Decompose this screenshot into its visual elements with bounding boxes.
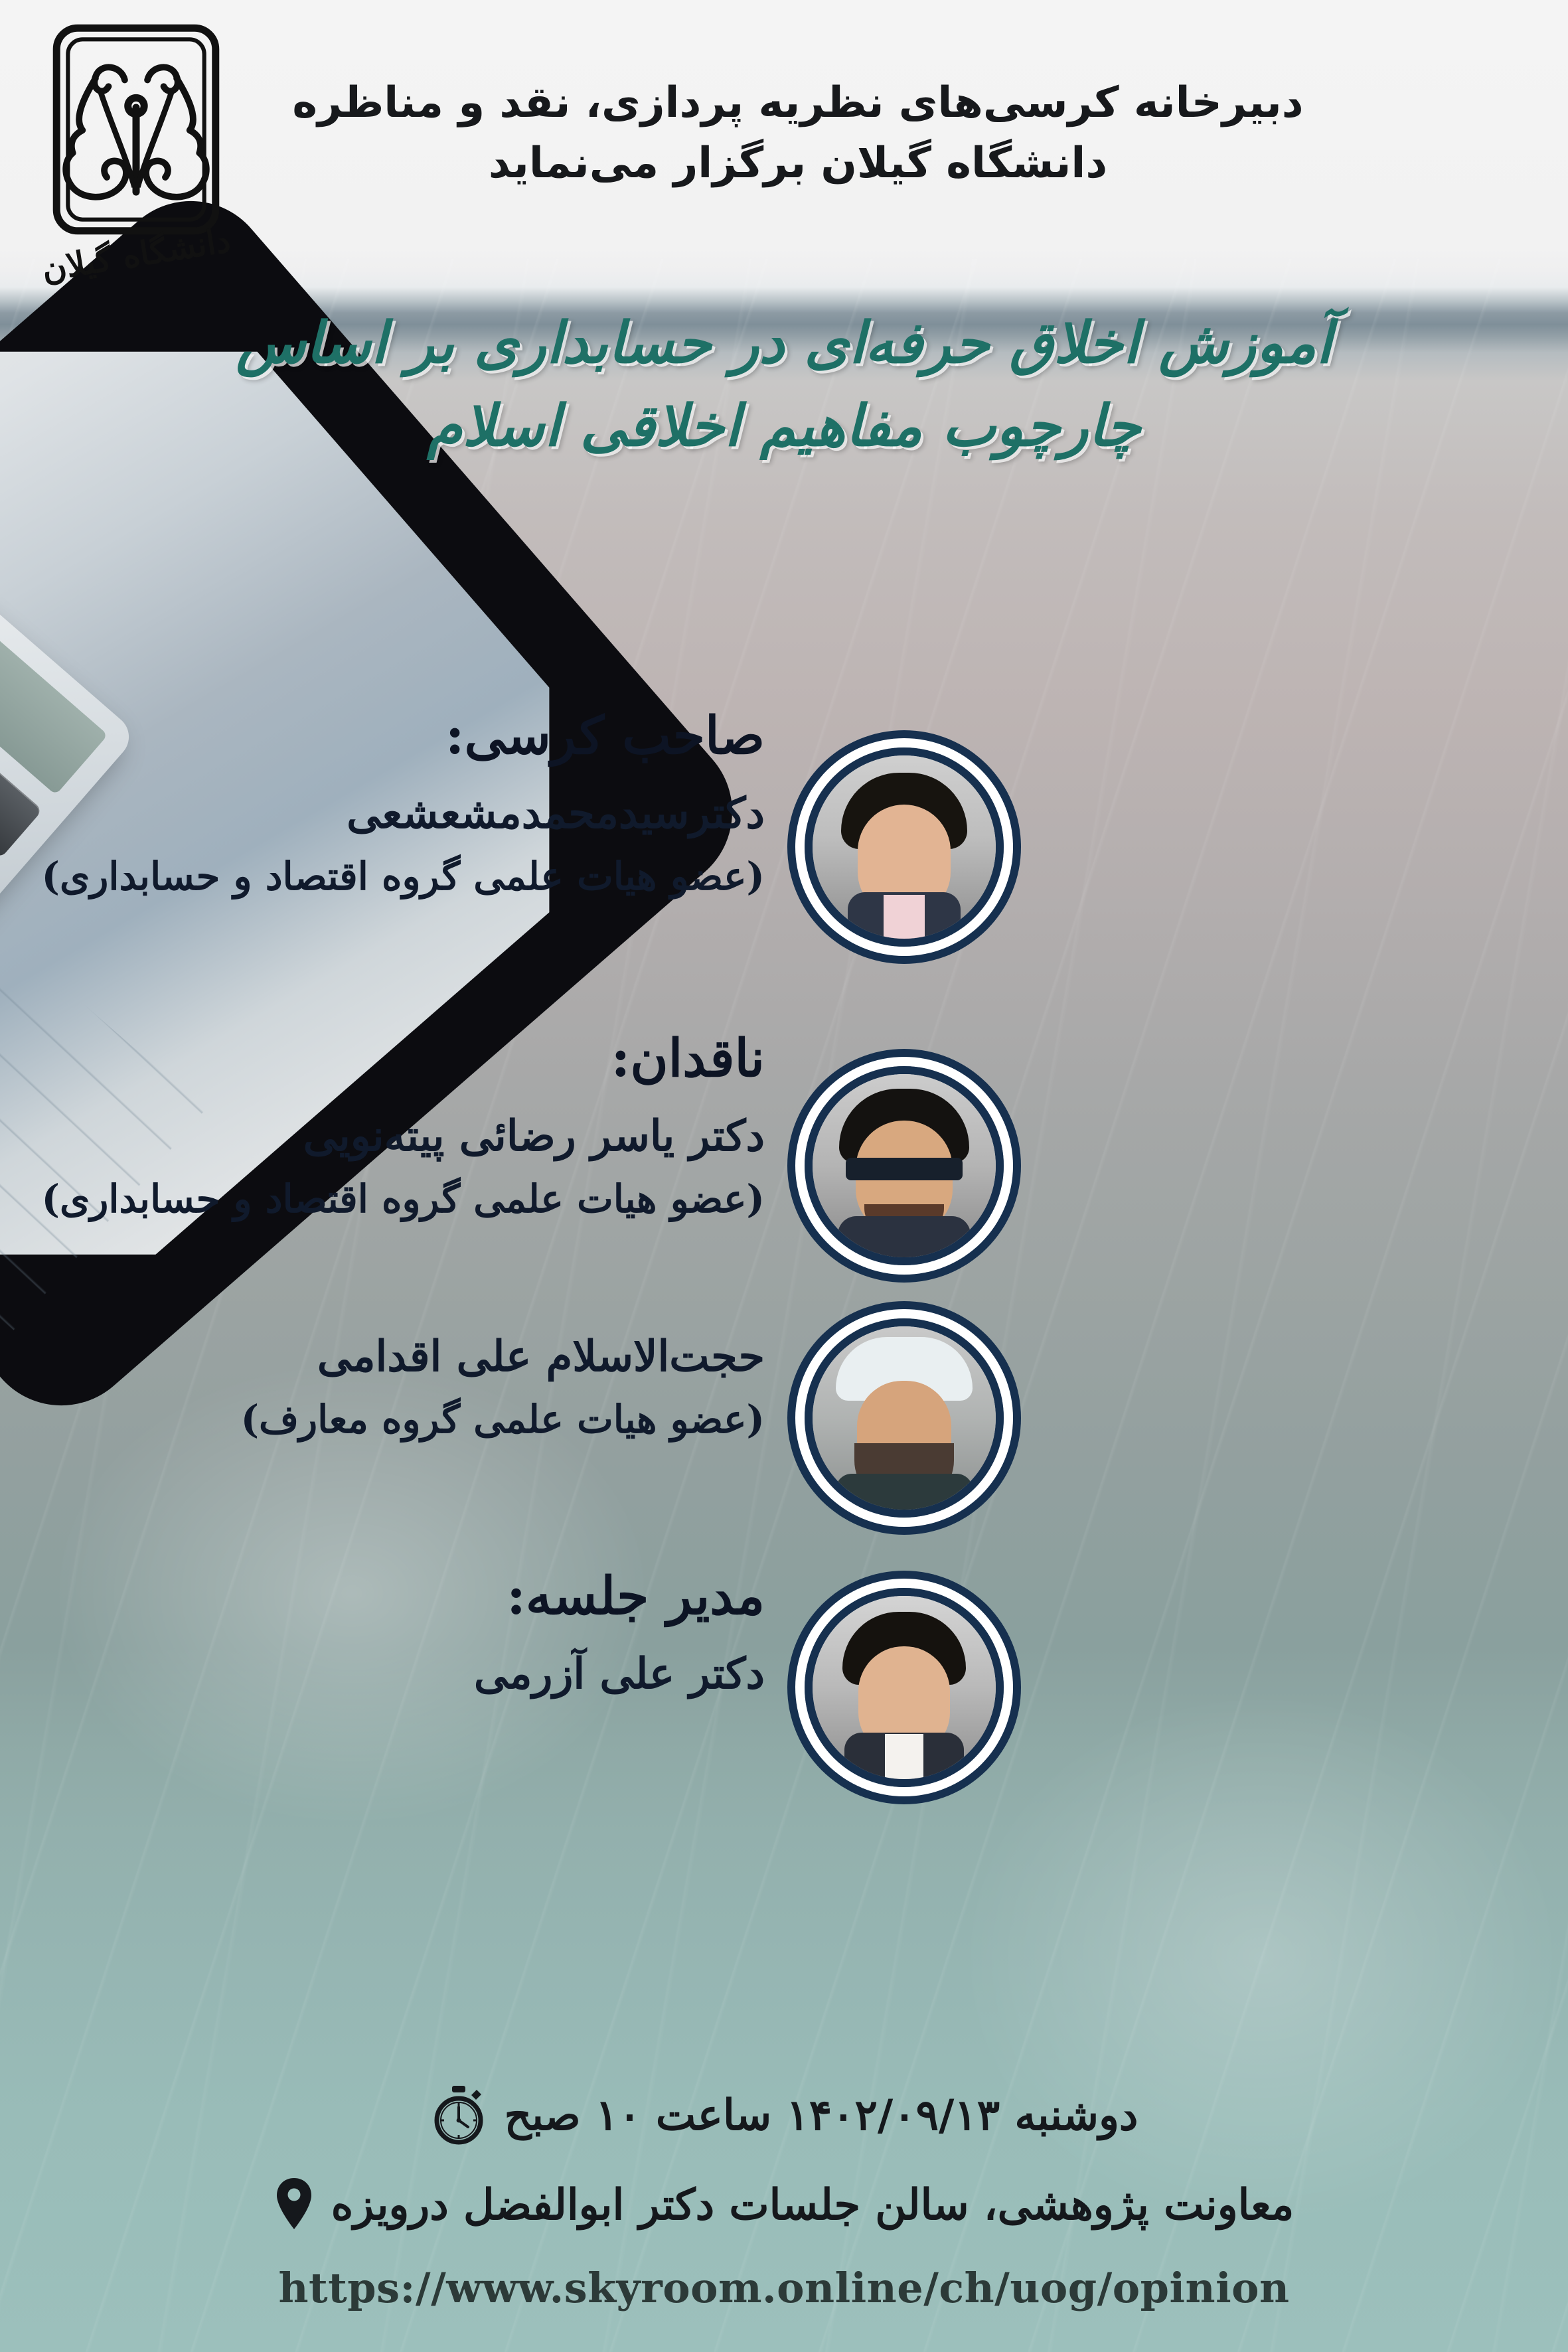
participant-text: مدیر جلسه: دکتر علی آزرمی: [0, 1564, 805, 1711]
portrait-critic-two: [813, 1326, 996, 1510]
datetime-row: دوشنبه ۱۴۰۲/۰۹/۱۳ ساعت ۱۰ صبح: [0, 2084, 1568, 2146]
url-row[interactable]: https://www.skyroom.online/ch/uog/opinio…: [0, 2264, 1568, 2312]
organizer-line-2: دانشگاه گیلان برگزار می‌نماید: [227, 133, 1369, 194]
poster-footer: دوشنبه ۱۴۰۲/۰۹/۱۳ ساعت ۱۰ صبح معاونت پژو…: [0, 2084, 1568, 2312]
avatar: [805, 1318, 1004, 1518]
participant-affiliation: (عضو هیات علمی گروه اقتصاد و حسابداری): [0, 850, 765, 902]
participant-role: مدیر جلسه:: [0, 1564, 765, 1629]
participant-affiliation: (عضو هیات علمی گروه معارف): [0, 1393, 765, 1445]
poster-title: آموزش اخلاق حرفه‌ای در حسابداری بر اساس …: [80, 302, 1488, 467]
location-row: معاونت پژوهشی، سالن جلسات دکتر ابوالفضل …: [0, 2176, 1568, 2233]
avatar: [805, 1588, 1004, 1787]
participant-role: ناقدان:: [0, 1026, 765, 1091]
participant-text: حجت‌الاسلام علی اقدامی (عضو هیات علمی گر…: [0, 1312, 805, 1445]
organizer-line-1: دبیرخانه کرسی‌های نظریه پردازی، نقد و من…: [227, 73, 1369, 133]
participant-affiliation: (عضو هیات علمی گروه اقتصاد و حسابداری): [0, 1173, 765, 1225]
title-line-1: آموزش اخلاق حرفه‌ای در حسابداری بر اساس: [80, 302, 1488, 385]
portrait-critic-one: [813, 1074, 996, 1257]
participant-role: صاحب کرسی:: [0, 704, 765, 769]
poster-header: دانشگاه گیلان دبیرخانه کرسی‌های نظریه پر…: [0, 0, 1568, 292]
event-location: معاونت پژوهشی، سالن جلسات دکتر ابوالفضل …: [331, 2180, 1294, 2230]
participant-row: ناقدان: دکتر یاسر رضائی پیته‌نویی (عضو ه…: [0, 1026, 1568, 1265]
organizer-block: دبیرخانه کرسی‌های نظریه پردازی، نقد و من…: [227, 73, 1369, 194]
participant-name: دکترسیدمحمدمشعشعی: [0, 786, 765, 841]
event-poster: دانشگاه گیلان دبیرخانه کرسی‌های نظریه پر…: [0, 0, 1568, 2352]
guilan-university-logo-icon: [46, 20, 226, 239]
title-line-2: چارچوب مفاهیم اخلاقی اسلام: [80, 385, 1488, 468]
participant-text: صاحب کرسی: دکترسیدمحمدمشعشعی (عضو هیات ع…: [0, 704, 805, 902]
participant-name: دکتر علی آزرمی: [0, 1646, 765, 1701]
event-datetime: دوشنبه ۱۴۰۲/۰۹/۱۳ ساعت ۱۰ صبح: [505, 2090, 1138, 2140]
participant-row: مدیر جلسه: دکتر علی آزرمی: [0, 1564, 1568, 1787]
participant-text: ناقدان: دکتر یاسر رضائی پیته‌نویی (عضو ه…: [0, 1026, 805, 1225]
participant-row: حجت‌الاسلام علی اقدامی (عضو هیات علمی گر…: [0, 1312, 1568, 1518]
stopwatch-icon: [430, 2084, 487, 2146]
participant-name: دکتر یاسر رضائی پیته‌نویی: [0, 1109, 765, 1164]
university-logo-block: دانشگاه گیلان: [27, 20, 246, 274]
participant-row: صاحب کرسی: دکترسیدمحمدمشعشعی (عضو هیات ع…: [0, 704, 1568, 947]
avatar: [805, 747, 1004, 947]
participants-section: صاحب کرسی: دکترسیدمحمدمشعشعی (عضو هیات ع…: [0, 704, 1568, 1787]
map-pin-icon: [274, 2176, 314, 2233]
avatar: [805, 1066, 1004, 1265]
portrait-chair-holder: [813, 755, 996, 939]
portrait-session-manager: [813, 1596, 996, 1779]
participant-name: حجت‌الاسلام علی اقدامی: [0, 1329, 765, 1384]
event-url[interactable]: https://www.skyroom.online/ch/uog/opinio…: [278, 2264, 1289, 2312]
